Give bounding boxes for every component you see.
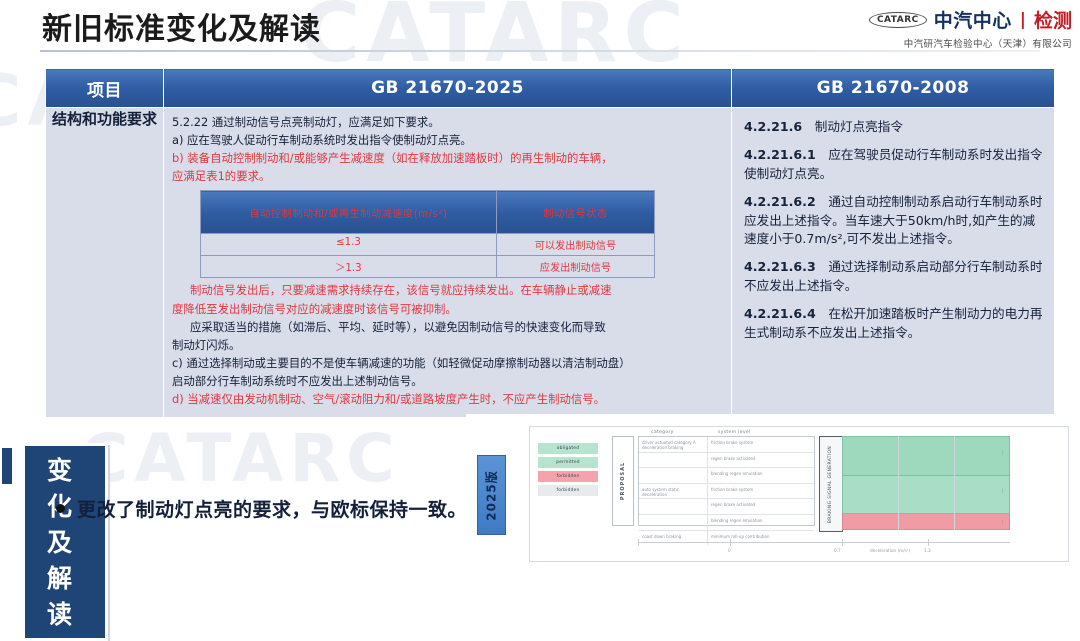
subtable-row: ≤1.3可以发出制动信号: [201, 234, 655, 256]
axis-title: deceleration (m/s²): [870, 548, 910, 553]
legend-item: forbidden: [538, 471, 598, 482]
figure-matrix-cell-category: driver actuated category A deceleration …: [639, 437, 708, 452]
figure-brace-label: }: [1001, 520, 1004, 525]
figure-matrix-cell-category: [639, 468, 708, 483]
figure-matrix-cell-category: [639, 453, 708, 468]
clause-text: 制动灯点亮指令: [815, 119, 903, 134]
legend-item: obligated: [538, 443, 598, 454]
figure-matrix-row: regen brake activated: [639, 499, 814, 515]
deceleration-subtable: 自动控制制动和/或再生制动减速度(m/s²) 制动信号状态 ≤1.3可以发出制动…: [200, 190, 655, 278]
figure-matrix-cell-category: [639, 499, 708, 514]
old-standard-clause: 4.2.21.6.3 通过选择制动系启动部分行车制动系时不应发出上述指令。: [744, 258, 1044, 296]
figure-matrix-cell-level: regen brake activated: [708, 499, 814, 514]
interpretation-bullet-text: 更改了制动灯点亮的要求，与欧标保持一致。: [77, 495, 467, 522]
axis-tick: [638, 539, 639, 546]
standard-text-line: 制动信号发出后，只要减速需求持续存在，该信号就应持续发出。在车辆静止或减速: [172, 282, 723, 299]
figure-matrix-row: blending regen emulation: [639, 468, 814, 484]
column-header-gb-2025: GB 21670-2025: [164, 69, 732, 108]
standard-text-line: 5.2.22 通过制动信号点亮制动灯，应满足如下要求。: [172, 114, 723, 131]
figure-band-forbidden: [842, 514, 1010, 530]
figure-matrix-cell-level: blending regen emulation: [708, 468, 814, 483]
axis-tick: [730, 539, 731, 546]
clause-number: 4.2.21.6.3: [744, 259, 828, 274]
figure-brace-label: }: [1001, 488, 1004, 493]
brand-name: 中汽中心: [934, 6, 1012, 33]
subtable-cell: ≤1.3: [201, 234, 497, 256]
brand-separator: |: [1020, 10, 1026, 30]
standard-text-line: c) 通过选择制动或主要目的不是使车辆减速的功能（如轻微促动摩擦制动器以清洁制动…: [172, 355, 723, 372]
figure-version-label: 2025版: [483, 470, 500, 520]
clause-number: 4.2.21.6: [744, 119, 815, 134]
figure-matrix-row: auto system static decelerationfriction …: [639, 484, 814, 500]
legend-item: forbidden: [538, 485, 598, 496]
table-row: 结构和功能要求 5.2.22 通过制动信号点亮制动灯，应满足如下要求。a) 应在…: [46, 108, 1055, 418]
figure-brace-label: }: [1001, 450, 1004, 455]
clause-number: 4.2.21.6.4: [744, 306, 828, 321]
figure-matrix-cell-level: blending regen emulation: [708, 515, 814, 530]
subtable-header-deceleration: 自动控制制动和/或再生制动减速度(m/s²): [201, 191, 497, 234]
page-header: 新旧标准变化及解读 CATARC 中汽中心 | 检测 中汽研汽车检验中心（天津）…: [0, 0, 1080, 58]
schematic-figure: 2025版 category system level obligated pe…: [466, 414, 1080, 572]
cell-gb-2025: 5.2.22 通过制动信号点亮制动灯，应满足如下要求。a) 应在驾驶人促动行车制…: [164, 108, 732, 418]
standard-text-line: a) 应在驾驶人促动行车制动系统时发出指令使制动灯点亮。: [172, 132, 723, 149]
standard-text-line: 应满足表1的要求。: [172, 168, 723, 185]
clause-number: 4.2.21.6.1: [744, 147, 828, 162]
old-standard-clause: 4.2.21.6.4 在松开加速踏板时产生制动力的电力再生式制动系不应发出上述指…: [744, 305, 1044, 343]
clause-number: 4.2.21.6.2: [744, 194, 828, 209]
standard-text-line: 度降低至发出制动信号对应的减速度时该信号可被抑制。: [172, 301, 723, 318]
ribbon-label: 变化及解读: [22, 443, 108, 641]
standard-text-line: 启动部分行车制动系统时不应发出上述制动信号。: [172, 373, 723, 390]
figure-column-header-system-level: system level: [718, 430, 751, 435]
column-header-gb-2008: GB 21670-2008: [732, 69, 1055, 108]
figure-legend: obligated permitted forbidden forbidden: [538, 443, 598, 499]
old-standard-clause: 4.2.21.6 制动灯点亮指令: [744, 118, 1044, 137]
axis-tick: [928, 539, 929, 546]
watermark: CATARC: [80, 420, 401, 497]
figure-proposal-label: PROPOSAL: [620, 462, 626, 500]
axis-tick: [842, 539, 843, 546]
figure-matrix-cell-level: regen brake activated: [708, 453, 814, 468]
figure-proposal-box: PROPOSAL: [612, 436, 634, 526]
old-standard-blocks: 4.2.21.6 制动灯点亮指令4.2.21.6.1 应在驾驶员促动行车制动系时…: [744, 118, 1044, 343]
figure-gridline: [954, 436, 955, 530]
axis-tick-label: 1.3: [924, 548, 931, 553]
brand-subtitle: 中汽研汽车检验中心（天津）有限公司: [869, 36, 1072, 50]
figure-module-box: BRAKING SIGNAL GENERATION: [819, 436, 843, 532]
old-standard-clause: 4.2.21.6.1 应在驾驶员促动行车制动系时发出指令使制动灯点亮。: [744, 146, 1044, 184]
figure-module-label: BRAKING SIGNAL GENERATION: [829, 445, 834, 522]
legend-item: permitted: [538, 457, 598, 468]
subtable-cell: ＞1.3: [201, 256, 497, 278]
figure-gridline: [898, 436, 899, 530]
figure-matrix-cell-level: friction brake system: [708, 437, 814, 452]
new-standard-lines-after: 制动信号发出后，只要减速需求持续存在，该信号就应持续发出。在车辆静止或减速度降低…: [172, 282, 723, 408]
catarc-mark-icon: CATARC: [869, 12, 927, 28]
figure-matrix-grid: driver actuated category A deceleration …: [638, 436, 815, 526]
interpretation-bullet-row: 更改了制动灯点亮的要求，与欧标保持一致。: [56, 495, 467, 522]
column-header-item: 项目: [46, 69, 164, 108]
subtable-header-row: 自动控制制动和/或再生制动减速度(m/s²) 制动信号状态: [201, 191, 655, 234]
title-divider: [40, 50, 1040, 52]
comparison-table: 项目 GB 21670-2025 GB 21670-2008 结构和功能要求 5…: [45, 68, 1055, 418]
figure-axis: 0 0.7 deceleration (m/s²) 1.3: [638, 542, 1010, 543]
figure-band-obligated: [842, 436, 1010, 476]
subtable-header-signal-state: 制动信号状态: [496, 191, 654, 234]
figure-matrix-cell-level: friction brake system: [708, 484, 814, 499]
figure-matrix-row: regen brake activated: [639, 453, 814, 469]
figure-bands: } } }: [842, 436, 1010, 530]
standard-text-line: d) 当减速仅由发动机制动、空气/滚动阻力和/或道路坡度产生时，不应产生制动信号…: [172, 391, 723, 408]
subtable-cell: 可以发出制动信号: [496, 234, 654, 256]
axis-tick-label: 0.7: [834, 548, 841, 553]
figure-matrix-row: driver actuated category A deceleration …: [639, 437, 814, 453]
figure-column-header-category: category: [651, 430, 674, 435]
row-label-structure-function: 结构和功能要求: [46, 108, 164, 418]
subtable-cell: 应发出制动信号: [496, 256, 654, 278]
axis-tick-label: 0: [728, 548, 731, 553]
ribbon-tab-accent: [0, 446, 14, 486]
figure-version-badge: 2025版: [477, 455, 506, 535]
page-title: 新旧标准变化及解读: [42, 4, 321, 48]
brand-logo: CATARC 中汽中心 | 检测 中汽研汽车检验中心（天津）有限公司: [869, 6, 1072, 50]
table-header-row: 项目 GB 21670-2025 GB 21670-2008: [46, 69, 1055, 108]
bullet-dot-icon: [56, 504, 65, 513]
standard-text-line: b) 装备自动控制制动和/或能够产生减速度（如在释放加速踏板时）的再生制动的车辆…: [172, 150, 723, 167]
figure-matrix-cell-category: [639, 515, 708, 530]
figure-matrix-cell-category: auto system static deceleration: [639, 484, 708, 499]
old-standard-clause: 4.2.21.6.2 通过自动控制制动系启动行车制动系时应发出上述指令。当车速大…: [744, 193, 1044, 250]
subtable-body: ≤1.3可以发出制动信号＞1.3应发出制动信号: [201, 234, 655, 278]
cell-gb-2008: 4.2.21.6 制动灯点亮指令4.2.21.6.1 应在驾驶员促动行车制动系时…: [732, 108, 1055, 418]
figure-band-permitted: [842, 476, 1010, 514]
new-standard-lines: 5.2.22 通过制动信号点亮制动灯，应满足如下要求。a) 应在驾驶人促动行车制…: [172, 114, 723, 185]
brand-accent: 检测: [1034, 6, 1072, 33]
subtable-row: ＞1.3应发出制动信号: [201, 256, 655, 278]
figure-matrix-row: blending regen emulation: [639, 515, 814, 531]
standard-text-line: 制动灯闪烁。: [172, 337, 723, 354]
standard-text-line: 应采取适当的措施（如滞后、平均、延时等），以避免因制动信号的快速变化而导致: [172, 319, 723, 336]
